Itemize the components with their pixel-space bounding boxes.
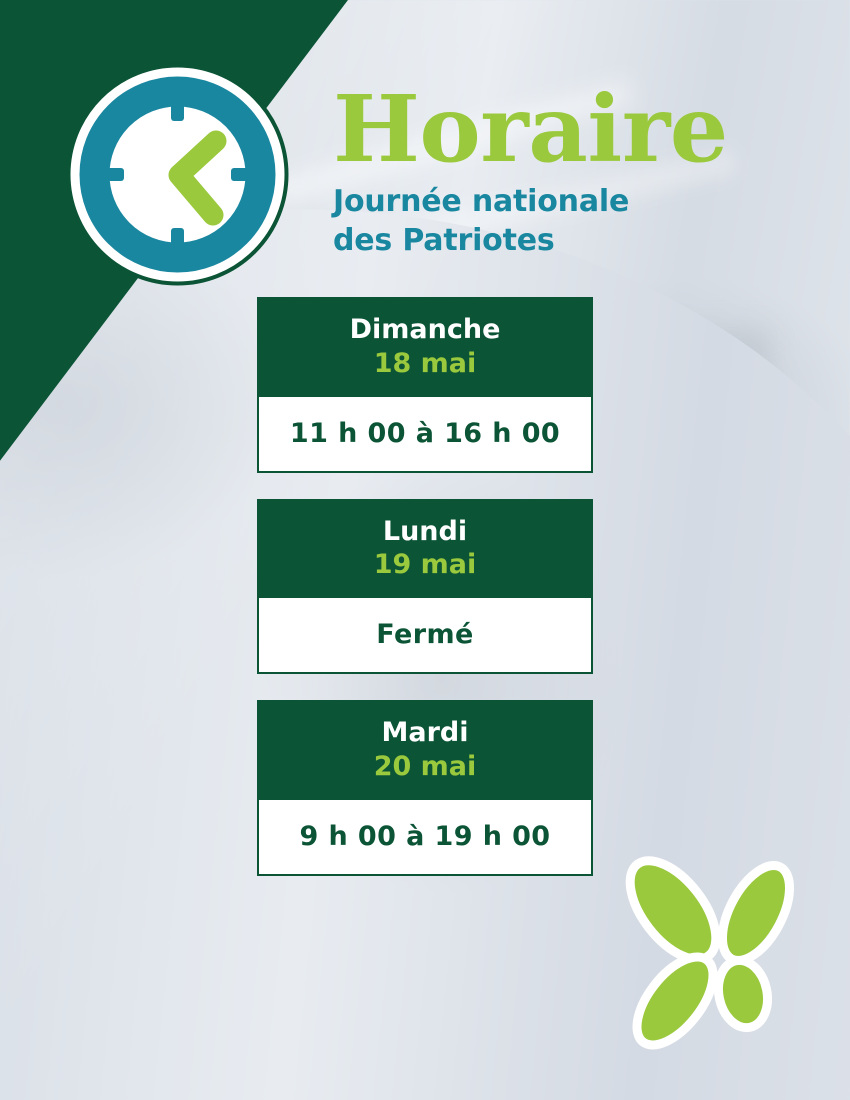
- schedule-card-header: Mardi 20 mai: [257, 700, 593, 800]
- clock-icon: [66, 63, 289, 286]
- schedule-card-body: 9 h 00 à 19 h 00: [257, 800, 593, 876]
- butterfly-logo-icon: [615, 855, 815, 1055]
- schedule-date-label: 20 mai: [267, 750, 583, 784]
- schedule-card-header: Dimanche 18 mai: [257, 297, 593, 397]
- schedule-hours-label: Fermé: [267, 619, 583, 650]
- schedule-day-label: Dimanche: [267, 313, 583, 347]
- schedule-day-label: Lundi: [267, 515, 583, 549]
- page-title: Horaire: [333, 86, 813, 172]
- schedule-date-label: 19 mai: [267, 548, 583, 582]
- headline-block: Horaire Journée nationale des Patriotes: [333, 86, 813, 260]
- schedule-day-label: Mardi: [267, 716, 583, 750]
- schedule-poster: Horaire Journée nationale des Patriotes …: [0, 0, 850, 1100]
- schedule-card-body: Fermé: [257, 598, 593, 674]
- schedule-date-label: 18 mai: [267, 347, 583, 381]
- subtitle-line-2: des Patriotes: [333, 221, 813, 260]
- schedule-card: Lundi 19 mai Fermé: [257, 499, 593, 675]
- schedule-card: Mardi 20 mai 9 h 00 à 19 h 00: [257, 700, 593, 876]
- schedule-list: Dimanche 18 mai 11 h 00 à 16 h 00 Lundi …: [257, 297, 593, 902]
- schedule-card: Dimanche 18 mai 11 h 00 à 16 h 00: [257, 297, 593, 473]
- schedule-hours-label: 9 h 00 à 19 h 00: [267, 821, 583, 852]
- page-subtitle: Journée nationale des Patriotes: [333, 182, 813, 260]
- schedule-hours-label: 11 h 00 à 16 h 00: [267, 418, 583, 449]
- subtitle-line-1: Journée nationale: [333, 182, 813, 221]
- schedule-card-header: Lundi 19 mai: [257, 499, 593, 599]
- schedule-card-body: 11 h 00 à 16 h 00: [257, 397, 593, 473]
